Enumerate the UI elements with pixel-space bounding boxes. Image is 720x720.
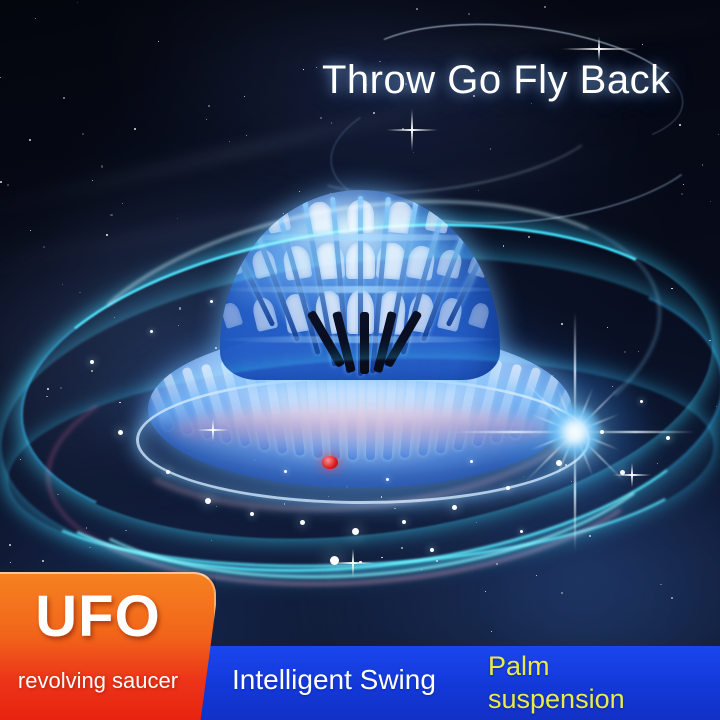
sparkle-particle — [330, 556, 339, 565]
sparkle-particle — [620, 470, 625, 475]
star — [331, 122, 333, 124]
star — [0, 181, 2, 183]
sparkle-particle — [90, 360, 94, 364]
sparkle-particle — [452, 505, 457, 510]
star — [9, 544, 11, 546]
star — [101, 165, 103, 167]
star — [476, 522, 477, 523]
sparkle-particle — [520, 530, 523, 533]
star — [211, 540, 212, 541]
sparkle-particle — [430, 548, 434, 552]
sparkle-particle — [150, 330, 153, 333]
star — [421, 569, 422, 570]
sparkle-particle — [556, 460, 562, 466]
lattice-opening — [468, 301, 491, 329]
sparkle-particle — [284, 470, 287, 473]
star — [496, 563, 498, 565]
led-indicator — [322, 456, 338, 469]
star — [77, 2, 78, 3]
badge-subtitle: revolving saucer — [0, 668, 196, 694]
sparkle-particle — [118, 430, 123, 435]
star — [158, 41, 159, 42]
star — [561, 592, 563, 594]
star — [125, 530, 126, 531]
star — [29, 139, 30, 140]
star — [589, 535, 591, 537]
feature-secondary-line2: suspension — [488, 683, 625, 716]
star — [671, 288, 673, 290]
feature-secondary-label: Palm suspension — [488, 650, 625, 716]
feature-secondary-line1: Palm — [488, 650, 625, 683]
sparkle-particle — [600, 430, 604, 434]
star — [246, 135, 247, 136]
sparkle-particle — [506, 486, 510, 490]
star — [57, 494, 58, 495]
star — [42, 560, 44, 562]
badge-title: UFO — [8, 583, 188, 650]
sparkle-particle — [386, 478, 389, 481]
star — [671, 597, 673, 599]
star — [35, 18, 36, 19]
sparkle-particle — [352, 528, 359, 535]
star — [30, 230, 31, 231]
star — [681, 193, 683, 195]
star — [7, 184, 8, 185]
star — [303, 69, 304, 70]
star — [0, 77, 1, 78]
star — [710, 201, 711, 202]
sparkle-particle — [300, 520, 305, 525]
star — [709, 340, 710, 341]
sparkle-particle — [470, 460, 473, 463]
star — [20, 459, 21, 460]
sparkle-particle — [210, 300, 213, 303]
star — [320, 117, 322, 119]
star — [718, 134, 719, 135]
star — [82, 133, 84, 135]
star — [10, 562, 11, 563]
star — [485, 591, 486, 592]
star — [244, 96, 245, 97]
sparkle-particle — [250, 512, 254, 516]
sparkle-particle — [402, 520, 406, 524]
star — [43, 246, 45, 248]
sparkle-particle — [166, 470, 170, 474]
sparkle-particle — [666, 436, 670, 440]
star — [63, 97, 65, 99]
sparkle-particle — [205, 498, 211, 504]
support-strut — [360, 312, 369, 374]
ufo-product-image — [70, 180, 650, 520]
star — [491, 631, 492, 632]
lattice-opening — [220, 301, 242, 329]
star — [60, 387, 62, 389]
feature-primary-label: Intelligent Swing — [232, 664, 436, 696]
advertisement-poster: Throw Go Fly Back Intelligent Swing — [0, 0, 720, 720]
headline-text: Throw Go Fly Back — [322, 58, 671, 103]
star — [47, 388, 49, 390]
sparkle-particle — [640, 400, 643, 403]
star — [401, 547, 403, 549]
star — [316, 67, 317, 68]
